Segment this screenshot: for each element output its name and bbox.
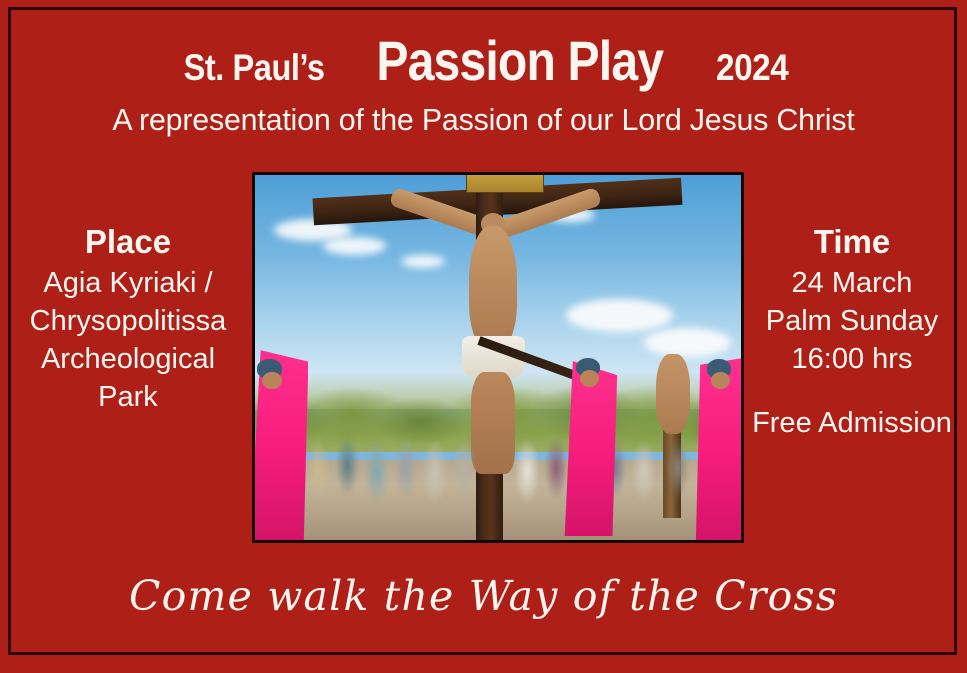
place-line-4: Park xyxy=(8,378,248,416)
place-line-1: Agia Kyriaki / xyxy=(8,264,248,302)
time-heading: Time xyxy=(742,222,962,262)
place-block: Place Agia Kyriaki / Chrysopolitissa Arc… xyxy=(8,222,248,416)
passion-play-poster: St. Paul’sPassion Play2024 A representat… xyxy=(0,0,967,673)
poster-title: St. Paul’sPassion Play2024 xyxy=(0,28,967,93)
crowd xyxy=(255,361,741,514)
soldier-head-left xyxy=(262,372,281,389)
time-line-1: 24 March xyxy=(742,264,962,302)
photo-content xyxy=(255,175,741,540)
poster-tagline: Come walk the Way of the Cross xyxy=(0,572,967,620)
crucifixion-scene-photo xyxy=(252,172,744,543)
poster-subtitle: A representation of the Passion of our L… xyxy=(10,102,958,138)
time-block: Time 24 March Palm Sunday 16:00 hrs Free… xyxy=(742,222,962,442)
place-heading: Place xyxy=(8,222,248,262)
admission-note: Free Admission xyxy=(742,404,962,442)
title-main: Passion Play xyxy=(376,28,663,93)
cross-titulus-sign xyxy=(466,175,544,193)
time-line-3: 16:00 hrs xyxy=(742,340,962,378)
figure-torso xyxy=(469,226,518,350)
time-spacer xyxy=(742,378,962,404)
title-year: 2024 xyxy=(716,47,788,89)
cloud-icon xyxy=(566,299,673,332)
place-line-3: Archeological xyxy=(8,340,248,378)
title-prefix: St. Paul’s xyxy=(184,47,325,89)
soldier-head-center xyxy=(580,370,599,387)
time-line-2: Palm Sunday xyxy=(742,302,962,340)
cloud-icon xyxy=(401,255,445,268)
soldier-head-right xyxy=(711,372,730,389)
place-line-2: Chrysopolitissa xyxy=(8,302,248,340)
